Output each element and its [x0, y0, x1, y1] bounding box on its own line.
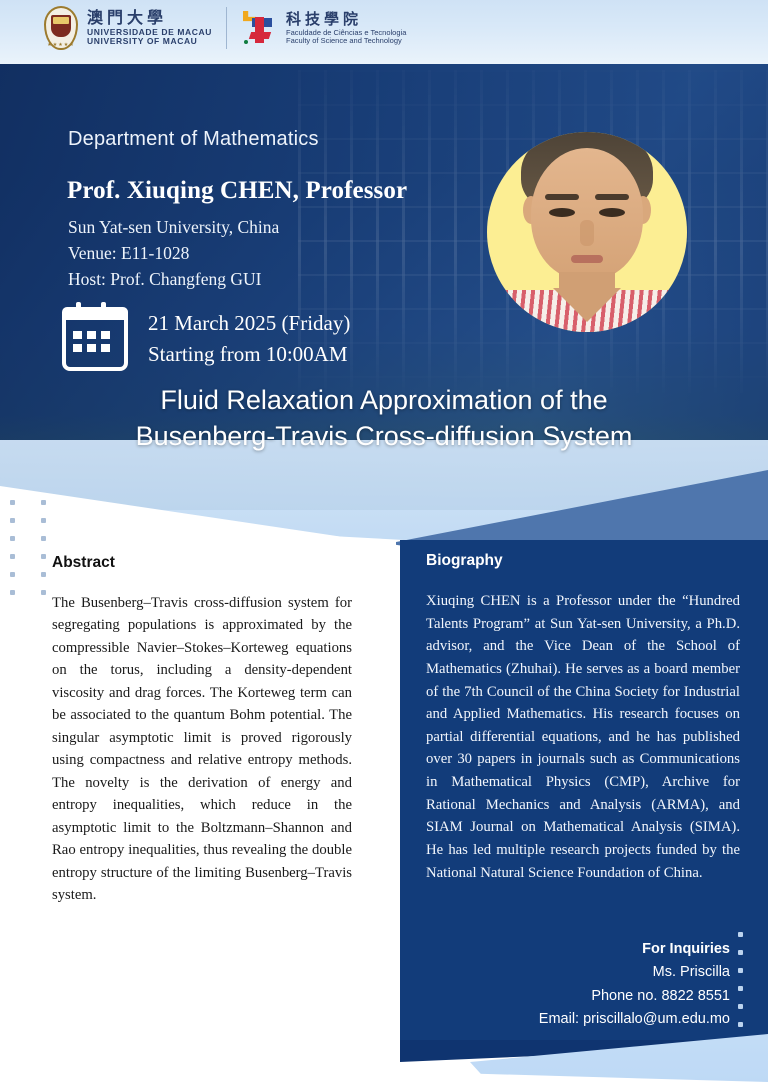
- inquiries-heading: For Inquiries: [400, 938, 730, 961]
- inquiries-contact-name: Ms. Priscilla: [400, 961, 730, 984]
- decorative-dots-left: [10, 500, 46, 595]
- crest-stars-icon: ★★★★★: [44, 42, 78, 48]
- biography-heading: Biography: [426, 552, 503, 570]
- seminar-title-line1: Fluid Relaxation Approximation of the: [0, 383, 768, 419]
- inquiries-section: For Inquiries Ms. Priscilla Phone no. 88…: [400, 938, 730, 1032]
- speaker-portrait: [487, 132, 687, 332]
- department-label: Department of Mathematics: [68, 128, 319, 151]
- fst-name-chinese: 科技學院: [286, 11, 406, 28]
- event-time: Starting from 10:00AM: [148, 339, 350, 371]
- um-crest-icon: ★★★★★: [44, 6, 78, 50]
- event-date: 21 March 2025 (Friday): [148, 308, 350, 340]
- university-of-macau-logo: ★★★★★ 澳門大學 UNIVERSIDADE DE MACAU UNIVERS…: [44, 6, 212, 50]
- date-time-block: 21 March 2025 (Friday) Starting from 10:…: [62, 307, 350, 371]
- venue-label: Venue: E11-1028: [68, 241, 279, 267]
- host-label: Host: Prof. Changfeng GUI: [68, 267, 279, 293]
- logo-divider: [226, 7, 227, 49]
- abstract-section: Abstract The Busenberg–Travis cross-diff…: [52, 554, 352, 907]
- portrait-photo: [487, 132, 687, 332]
- inquiries-phone: Phone no. 8822 8551: [400, 985, 730, 1008]
- abstract-heading: Abstract: [52, 554, 352, 572]
- speaker-name: Prof. Xiuqing CHEN, Professor: [67, 177, 407, 205]
- logo-bar: ★★★★★ 澳門大學 UNIVERSIDADE DE MACAU UNIVERS…: [0, 0, 768, 64]
- seminar-title-line2: Busenberg-Travis Cross-diffusion System: [0, 419, 768, 455]
- faculty-of-science-and-technology-logo: 科技學院 Faculdade de Ciências e Tecnologia …: [241, 8, 406, 48]
- logo-group: ★★★★★ 澳門大學 UNIVERSIDADE DE MACAU UNIVERS…: [44, 6, 406, 50]
- fst-mark-icon: [241, 8, 277, 48]
- um-name-chinese: 澳門大學: [87, 10, 212, 27]
- decorative-dots-right: [738, 932, 768, 1027]
- inquiries-email[interactable]: Email: priscillalo@um.edu.mo: [400, 1008, 730, 1031]
- calendar-icon: [62, 307, 128, 371]
- content-area: Abstract The Busenberg–Travis cross-diff…: [0, 540, 768, 1084]
- um-name-english: UNIVERSITY OF MACAU: [87, 37, 212, 46]
- abstract-body: The Busenberg–Travis cross-diffusion sys…: [52, 592, 352, 907]
- seminar-poster: ★★★★★ 澳門大學 UNIVERSIDADE DE MACAU UNIVERS…: [0, 0, 768, 1084]
- seminar-title: Fluid Relaxation Approximation of the Bu…: [0, 383, 768, 454]
- biography-body: Xiuqing CHEN is a Professor under the “H…: [426, 590, 740, 884]
- speaker-details: Sun Yat-sen University, China Venue: E11…: [68, 215, 279, 293]
- fst-name-english: Faculty of Science and Technology: [286, 37, 406, 45]
- speaker-affiliation: Sun Yat-sen University, China: [68, 215, 279, 241]
